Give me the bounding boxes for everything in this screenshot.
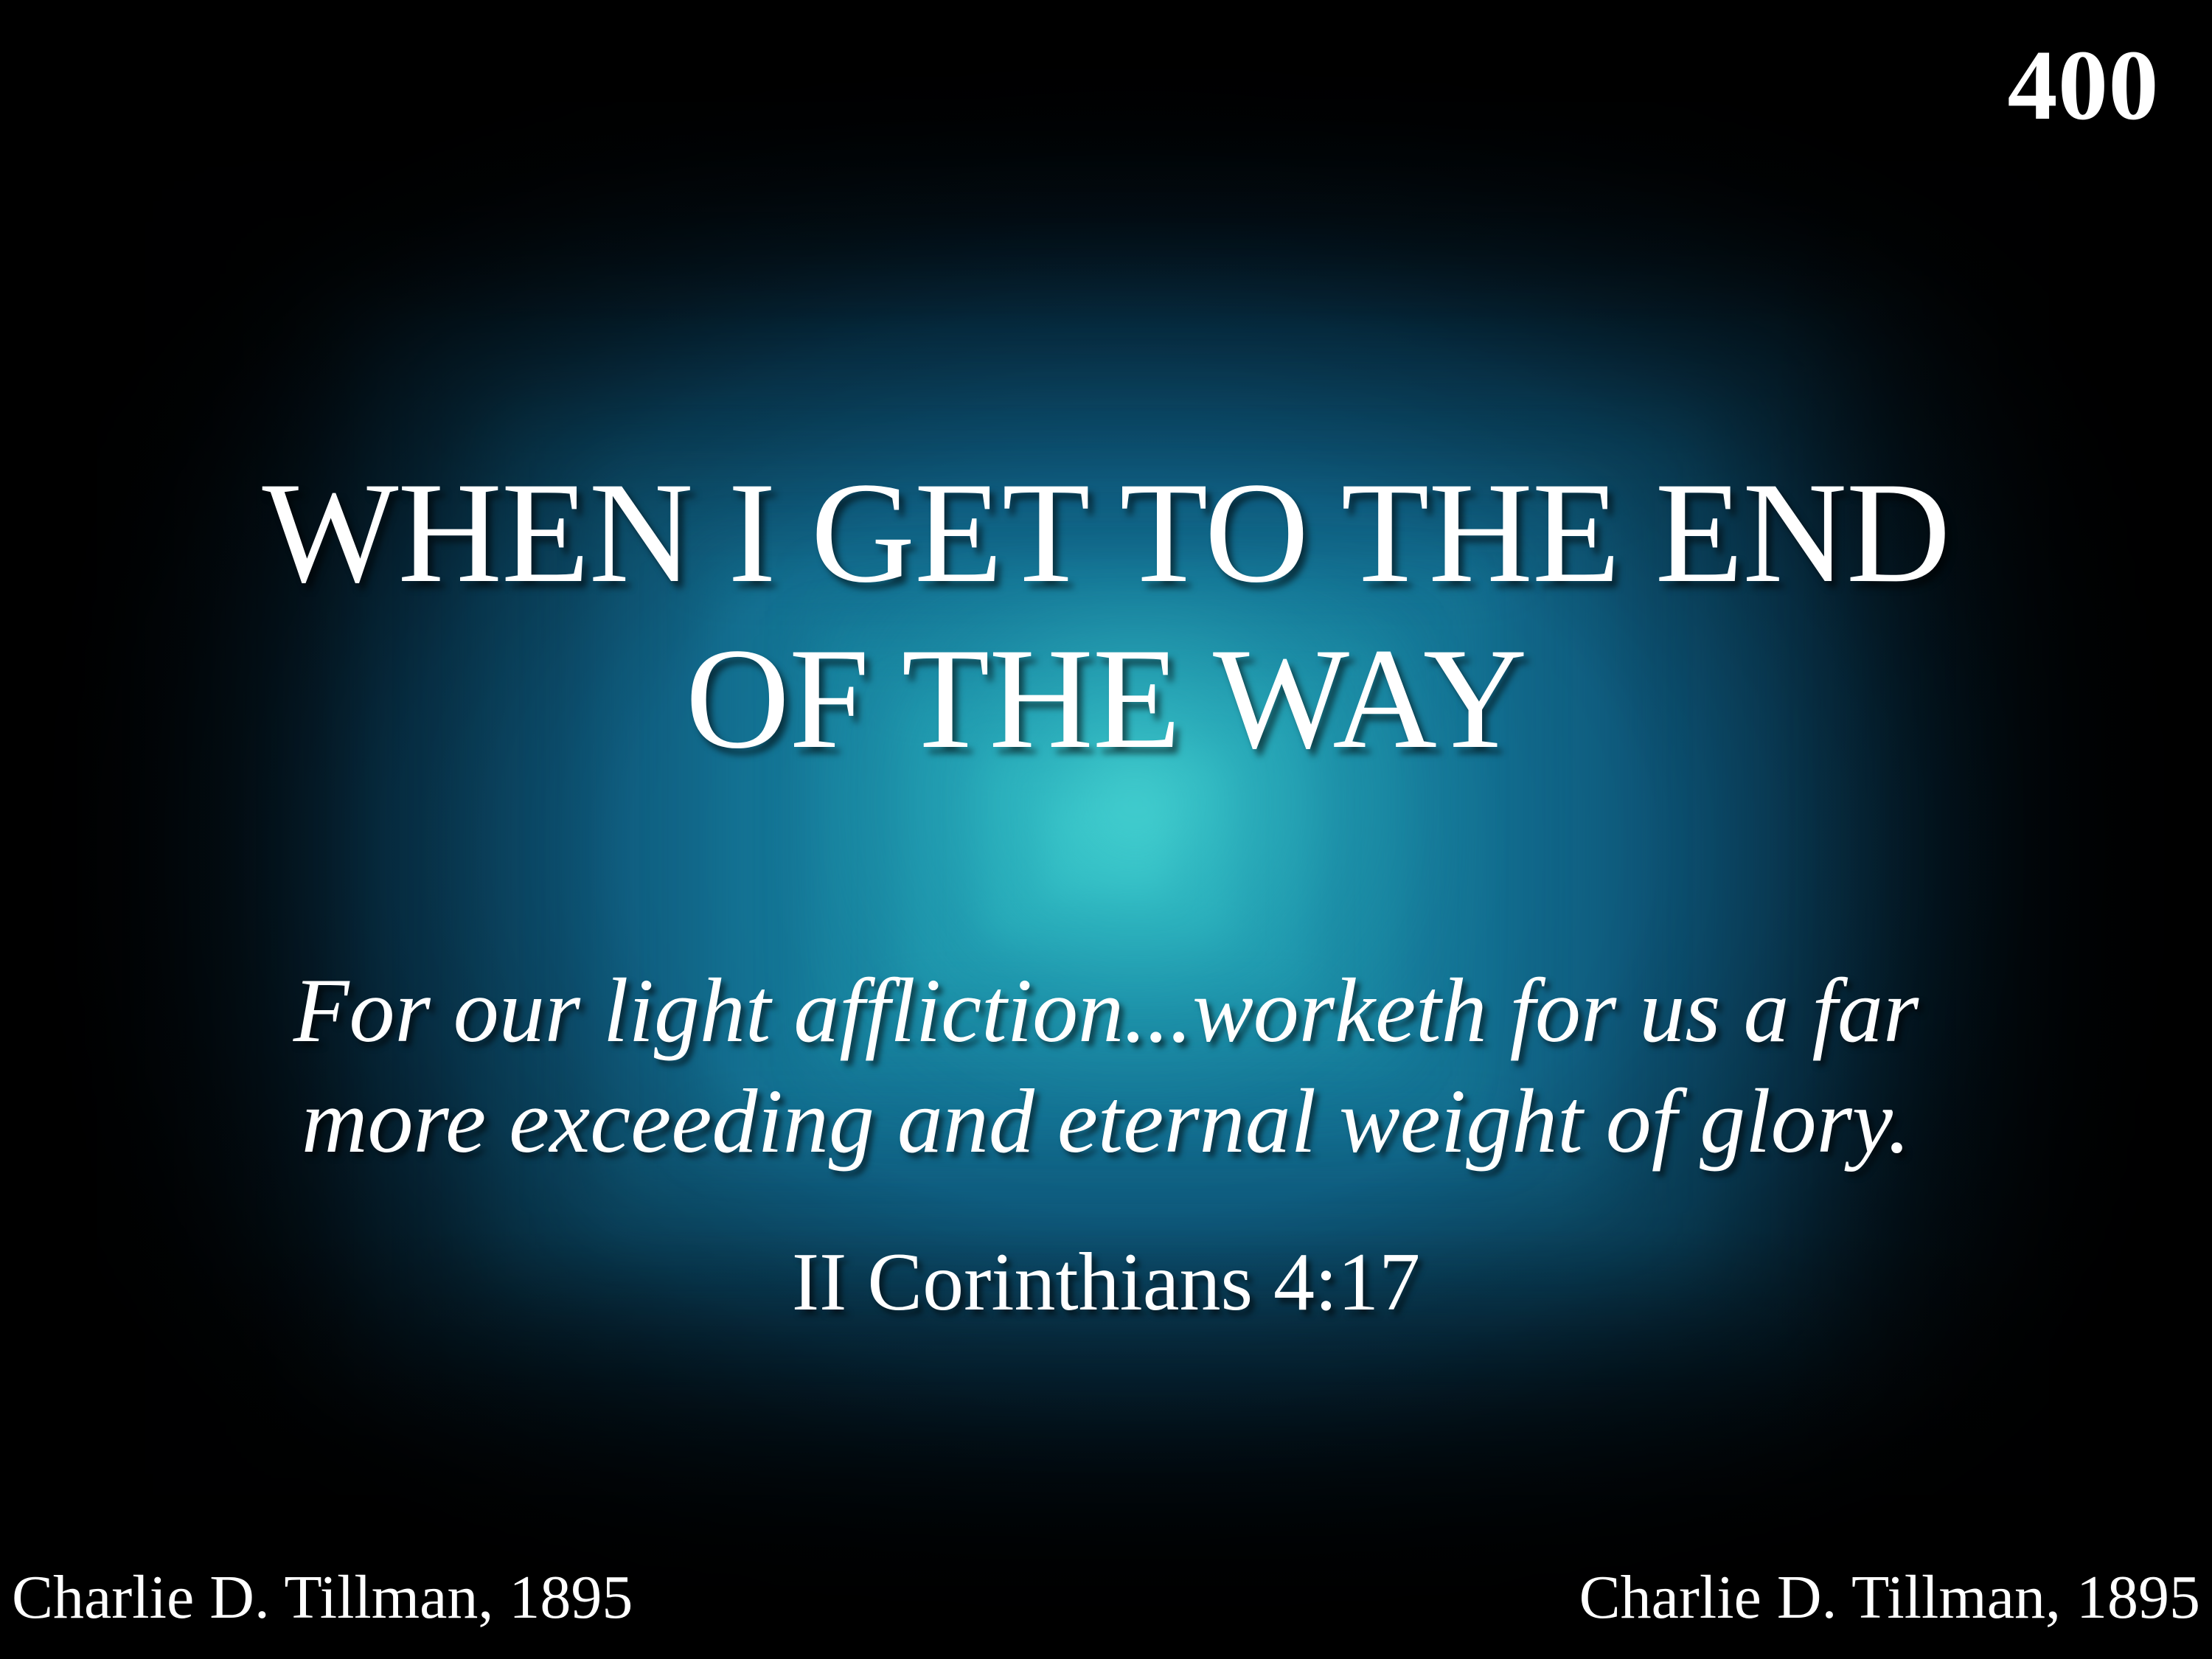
scripture-reference: II Corinthians 4:17 — [147, 1233, 2065, 1332]
scripture-line-1: For our light affliction...worketh for u… — [147, 956, 2065, 1066]
hymn-slide: 400 WHEN I GET TO THE END OF THE WAY For… — [0, 0, 2212, 1659]
scripture-text: For our light affliction...worketh for u… — [147, 956, 2065, 1177]
hymn-number: 400 — [2008, 35, 2160, 136]
credit-right: Charlie D. Tillman, 1895 — [1579, 1562, 2200, 1634]
page-title: WHEN I GET TO THE END OF THE WAY — [111, 450, 2101, 782]
credit-left: Charlie D. Tillman, 1895 — [12, 1562, 633, 1634]
scripture-line-2: more exceeding and eternal weight of glo… — [147, 1066, 2065, 1177]
title-line-2: OF THE WAY — [111, 616, 2101, 782]
slide-content: 400 WHEN I GET TO THE END OF THE WAY For… — [0, 0, 2212, 1659]
title-line-1: WHEN I GET TO THE END — [111, 450, 2101, 616]
